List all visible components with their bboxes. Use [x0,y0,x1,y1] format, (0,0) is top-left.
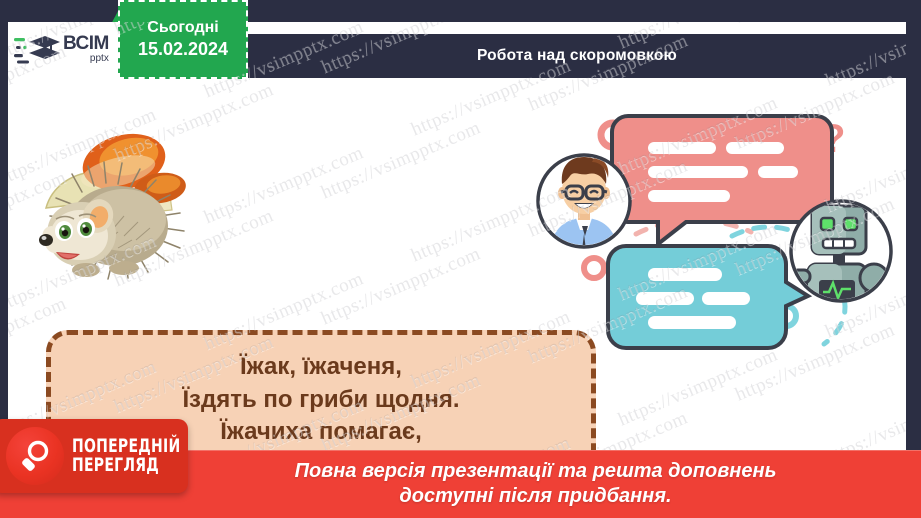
today-date: 15.02.2024 [138,39,228,60]
logo-suffix: pptx [63,54,109,64]
boy-and-robot-chat-bubbles-image: ? ! [536,108,906,356]
tongue-twister-line: Їздять по гриби щодня. [51,384,591,417]
preview-badge-text: ПОПЕРЕДНІЙ ПЕРЕГЛЯД [72,437,204,476]
banner-line1: Повна версія презентації та решта доповн… [295,459,777,484]
brand-logo: ВСІМ pptx [8,22,118,78]
logo-text: ВСІМ pptx [63,34,109,64]
graduation-cap-icon [14,33,60,67]
page-title: Робота над скоромовкою [477,47,677,65]
preview-badge-line2: ПЕРЕГЛЯД [72,456,180,475]
preview-badge: ПОПЕРЕДНІЙ ПЕРЕГЛЯД [0,419,188,493]
magnifier-icon [6,427,64,485]
logo-name: ВСІМ [63,34,109,53]
tongue-twister-line: Їжак, їжаченя, [51,351,591,384]
today-label: Сьогодні [147,19,218,37]
banner-line2: доступні після придбання. [295,484,777,509]
today-date-badge: Сьогодні 15.02.2024 [118,0,248,79]
header-bar: Робота над скоромовкою [248,34,906,78]
hedgehog-with-mushrooms-image [20,100,200,290]
slide-screenshot: ? ! [0,0,921,518]
